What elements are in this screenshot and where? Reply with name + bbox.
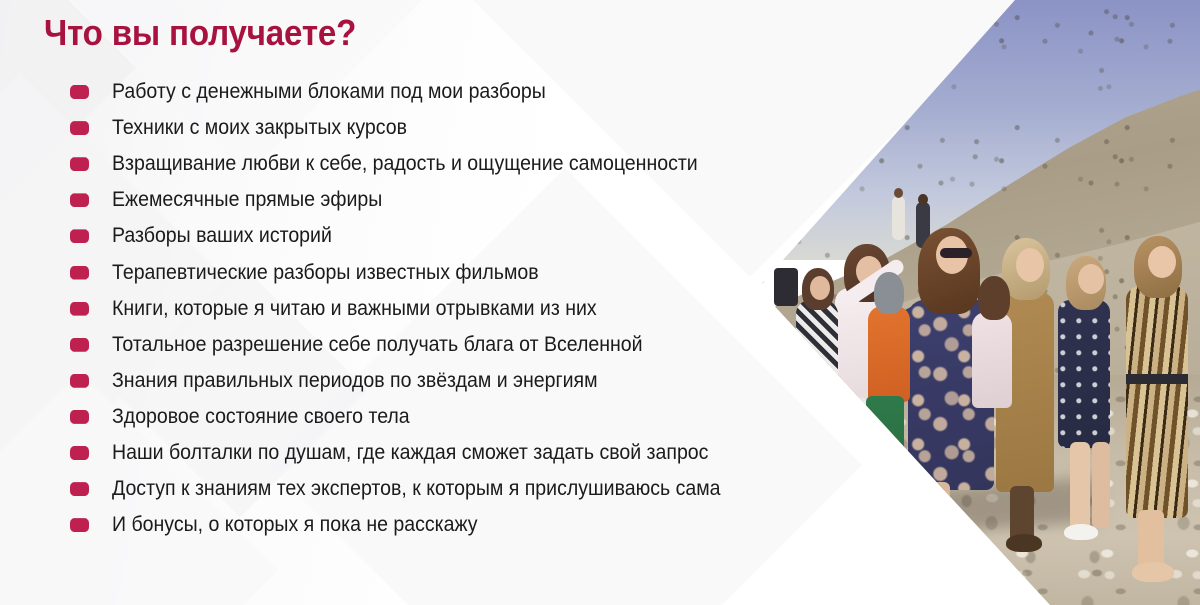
list-item: Книги, которые я читаю и важными отрывка…	[62, 291, 872, 327]
bullet-marker-icon	[70, 193, 89, 207]
bullet-marker-icon	[70, 229, 89, 243]
list-item-label: Терапевтические разборы известных фильмо…	[112, 261, 539, 285]
person-4-top	[868, 306, 910, 402]
bullet-marker-icon	[70, 482, 89, 496]
background-person-head	[894, 188, 903, 198]
person-7-jumpsuit	[1126, 286, 1188, 518]
background-person	[892, 196, 905, 240]
person-7-head	[1148, 246, 1176, 278]
list-item-label: Книги, которые я читаю и важными отрывка…	[112, 297, 597, 321]
slide-root: Что вы получаете? Работу с денежными бло…	[0, 0, 1200, 605]
list-item-label: Работу с денежными блоками под мои разбо…	[112, 80, 546, 104]
bullet-marker-icon	[70, 374, 89, 388]
list-item-label: Наши болталки по душам, где каждая сможе…	[112, 441, 708, 465]
list-item-label: Здоровое состояние своего тела	[112, 405, 410, 429]
list-item: Здоровое состояние своего тела	[62, 399, 872, 435]
bullet-marker-icon	[70, 157, 89, 171]
list-item-label: Техники с моих закрытых курсов	[112, 116, 407, 140]
bullet-marker-icon	[70, 302, 89, 316]
person-5-head	[1016, 248, 1044, 282]
list-item: Тотальное разрешение себе получать блага…	[62, 327, 872, 363]
benefits-list: Работу с денежными блоками под мои разбо…	[62, 74, 872, 543]
person-4-hair	[874, 272, 904, 314]
person-6-shoe	[1064, 524, 1098, 540]
list-item-label: Знания правильных периодов по звёздам и …	[112, 369, 598, 393]
person-7-shoe	[1132, 562, 1174, 582]
text-column: Что вы получаете? Работу с денежными бло…	[0, 0, 760, 605]
list-item: Работу с денежными блоками под мои разбо…	[62, 74, 872, 110]
person-8-top	[972, 312, 1012, 408]
person-8-hair	[978, 276, 1010, 320]
bullet-marker-icon	[70, 121, 89, 135]
person-7-belt	[1126, 374, 1188, 384]
list-item-label: Разборы ваших историй	[112, 224, 332, 248]
list-item: Знания правильных периодов по звёздам и …	[62, 363, 872, 399]
list-item: Терапевтические разборы известных фильмо…	[62, 254, 872, 290]
list-item: Разборы ваших историй	[62, 218, 872, 254]
list-item: Доступ к знаниям тех экспертов, к которы…	[62, 471, 872, 507]
list-item-label: Доступ к знаниям тех экспертов, к которы…	[112, 477, 721, 501]
bullet-marker-icon	[70, 518, 89, 532]
list-item: И бонусы, о которых я пока не расскажу	[62, 507, 872, 543]
list-item-label: Тотальное разрешение себе получать блага…	[112, 333, 643, 357]
list-item-label: Ежемесячные прямые эфиры	[112, 188, 382, 212]
bullet-marker-icon	[70, 446, 89, 460]
bullet-marker-icon	[70, 85, 89, 99]
bullet-marker-icon	[70, 338, 89, 352]
background-person-head	[918, 194, 928, 205]
bullet-marker-icon	[70, 266, 89, 280]
list-item: Техники с моих закрытых курсов	[62, 110, 872, 146]
person-6-dress	[1058, 300, 1110, 448]
person-5-shoe	[1006, 534, 1042, 552]
sunglasses-icon	[940, 248, 972, 258]
person-6-leg	[1092, 442, 1110, 528]
person-6-leg	[1070, 442, 1090, 534]
list-item-label: И бонусы, о которых я пока не расскажу	[112, 513, 478, 537]
person-3-shoe	[922, 540, 956, 558]
page-title: Что вы получаете?	[44, 12, 356, 54]
list-item: Ежемесячные прямые эфиры	[62, 182, 872, 218]
person-6-head	[1078, 264, 1104, 294]
list-item: Наши болталки по душам, где каждая сможе…	[62, 435, 872, 471]
list-item-label: Взращивание любви к себе, радость и ощущ…	[112, 152, 698, 176]
bullet-marker-icon	[70, 410, 89, 424]
list-item: Взращивание любви к себе, радость и ощущ…	[62, 146, 872, 182]
person-3-leg	[926, 482, 950, 548]
